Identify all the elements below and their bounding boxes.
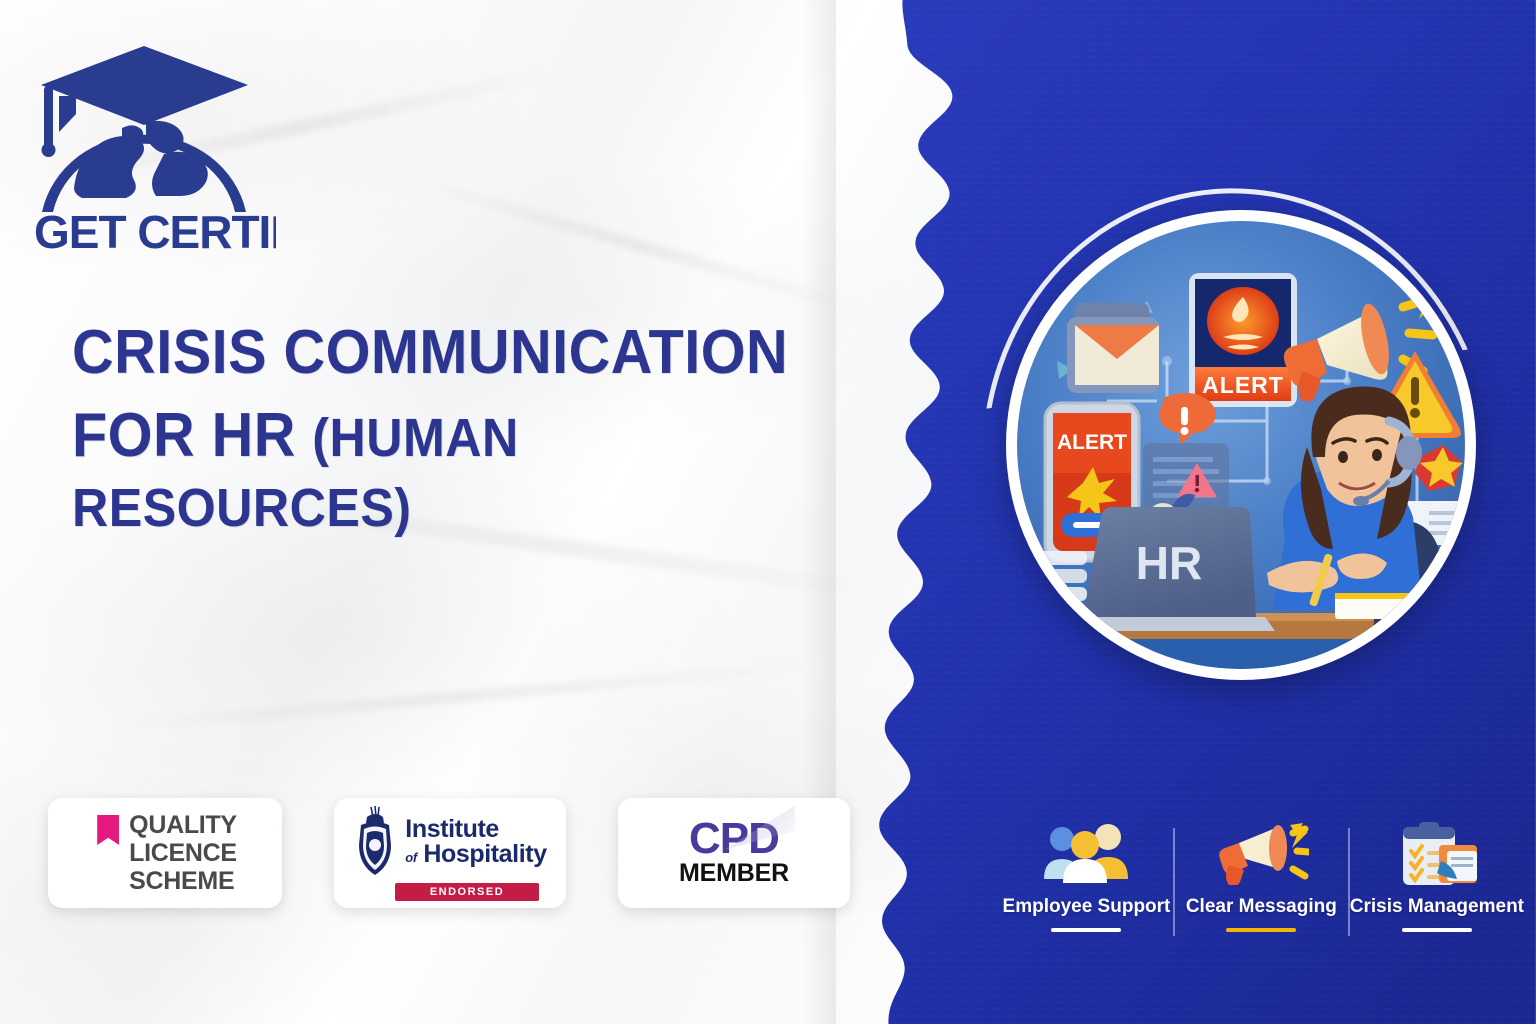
svg-text:ALERT: ALERT (1057, 431, 1127, 454)
exclamation-bubble-icon (1159, 393, 1216, 445)
title-line-2a: FOR HR (72, 401, 312, 470)
flame-alert-icon: ALERT (1189, 273, 1297, 407)
title-line-1: CRISIS COMMUNICATION (72, 318, 788, 387)
laptop-label: HR (1136, 537, 1202, 589)
feature-clear-messaging[interactable]: Clear Messaging (1175, 818, 1348, 932)
hero-circle-frame: ALERT (1006, 210, 1476, 680)
brand-logo[interactable]: GET CERTIFY (16, 22, 276, 252)
promo-banner: GET CERTIFY CRISIS COMMUNICATION FOR HR … (0, 0, 1536, 1024)
hr-person (1267, 386, 1423, 609)
laptop-hr: HR (1069, 507, 1275, 631)
accreditation-badges: QUALITY LICENCE SCHEME (48, 798, 850, 908)
email-envelope-icon (1067, 303, 1159, 393)
badge-institute-of-hospitality[interactable]: Institute of Hospitality ENDORSED (334, 798, 566, 908)
feature-employee-support[interactable]: Employee Support (1000, 818, 1173, 932)
logo-wordmark: GET CERTIFY (34, 206, 276, 252)
feature-label: Clear Messaging (1186, 896, 1337, 918)
ioh-line-1: Institute (405, 817, 546, 842)
feature-underline (1402, 928, 1472, 932)
badge-quality-licence-scheme[interactable]: QUALITY LICENCE SCHEME (48, 798, 282, 908)
megaphone-icon (1213, 818, 1309, 890)
feature-label: Crisis Management (1350, 896, 1524, 918)
feature-underline (1226, 928, 1296, 932)
clipboard-check-icon (1391, 818, 1483, 890)
hero-illustration: ALERT (988, 196, 1488, 756)
ioh-endorsed-band: ENDORSED (395, 883, 539, 901)
qls-line-1: QUALITY (129, 811, 237, 839)
page-title: CRISIS COMMUNICATION FOR HR (HUMAN RESOU… (72, 318, 835, 540)
bookmark-ribbon-icon (97, 815, 119, 845)
qls-line-2: LICENCE (129, 839, 237, 867)
badge-cpd-member[interactable]: CPD MEMBER (618, 798, 850, 908)
heraldic-crest-icon (353, 805, 397, 879)
cpd-line-2: MEMBER (679, 859, 789, 888)
feature-underline (1051, 928, 1121, 932)
ioh-line-2: Hospitality (423, 840, 546, 868)
feature-list: Employee Support Clear Messaging (1000, 818, 1524, 968)
graduation-cap-globe-icon (41, 46, 248, 212)
qls-line-3: SCHEME (129, 867, 237, 895)
feature-label: Employee Support (1003, 896, 1171, 918)
people-group-icon (1040, 818, 1132, 890)
feature-crisis-management[interactable]: Crisis Management (1350, 818, 1524, 932)
svg-text:ALERT: ALERT (1202, 372, 1284, 398)
ioh-of: of (405, 850, 416, 865)
